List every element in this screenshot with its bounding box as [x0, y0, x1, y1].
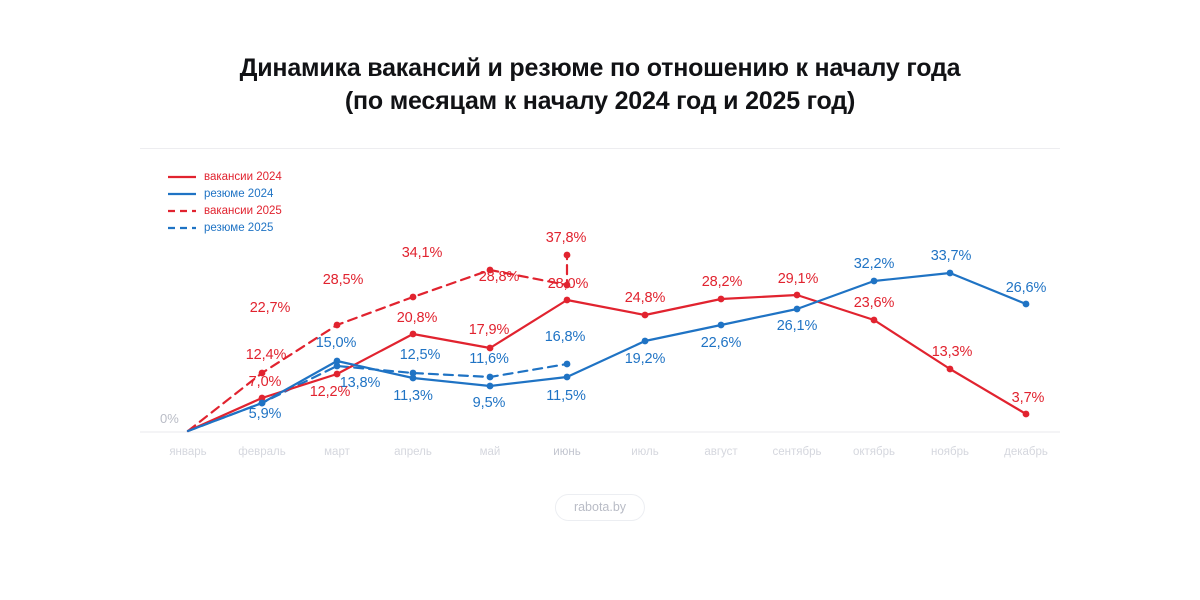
- data-point-label: 11,3%: [393, 388, 433, 404]
- data-point-label: 22,7%: [250, 300, 291, 316]
- x-axis-label-7: август: [704, 446, 737, 458]
- data-point-label: 22,6%: [701, 335, 742, 351]
- x-axis-label-9: октябрь: [853, 446, 895, 458]
- x-axis-label-5: июнь: [553, 446, 580, 458]
- data-point-label: 28,8%: [479, 269, 520, 285]
- data-point-label: 12,2%: [310, 384, 351, 400]
- chart-page: Динамика вакансий и резюме по отношению …: [0, 0, 1200, 600]
- x-axis-label-10: ноябрь: [931, 446, 969, 458]
- data-point-label: 24,8%: [625, 290, 666, 306]
- x-axis-label-1: февраль: [238, 446, 285, 458]
- x-axis-label-11: декабрь: [1004, 446, 1048, 458]
- data-point-label: 7,0%: [249, 374, 282, 390]
- data-point-label: 34,1%: [402, 245, 443, 261]
- data-point-label: 28,2%: [702, 274, 743, 290]
- data-point-label: 11,5%: [546, 388, 586, 404]
- data-point-label: 20,8%: [397, 310, 438, 326]
- data-point-label: 28,0%: [548, 276, 589, 292]
- source-badge: rabota.by: [555, 494, 645, 521]
- data-point-label: 12,5%: [400, 347, 441, 363]
- x-axis-label-2: март: [324, 446, 350, 458]
- data-point-label: 28,5%: [323, 272, 364, 288]
- data-point-label: 11,6%: [469, 351, 509, 367]
- data-point-label: 13,3%: [932, 344, 973, 360]
- x-axis-label-6: июль: [631, 446, 659, 458]
- data-point-label: 17,9%: [469, 322, 510, 338]
- data-point-label: 16,8%: [545, 329, 586, 345]
- data-point-label: 3,7%: [1012, 390, 1045, 406]
- x-axis-label-3: апрель: [394, 446, 432, 458]
- data-point-label: 15,0%: [316, 335, 357, 351]
- x-axis-label-4: май: [480, 446, 501, 458]
- data-point-label: 37,8%: [546, 230, 587, 246]
- data-point-label: 9,5%: [473, 395, 506, 411]
- data-point-label: 26,6%: [1006, 280, 1047, 296]
- data-point-label: 32,2%: [854, 256, 895, 272]
- data-point-label: 12,4%: [246, 347, 287, 363]
- data-point-label: 23,6%: [854, 295, 895, 311]
- data-point-label: 5,9%: [249, 406, 282, 422]
- x-axis-label-8: сентябрь: [773, 446, 822, 458]
- data-point-label: 26,1%: [777, 318, 818, 334]
- x-axis-label-0: январь: [169, 446, 206, 458]
- data-point-label: 29,1%: [778, 271, 819, 287]
- data-point-label: 33,7%: [931, 248, 972, 264]
- y-origin-label: 0%: [160, 411, 179, 426]
- data-point-label: 19,2%: [625, 351, 666, 367]
